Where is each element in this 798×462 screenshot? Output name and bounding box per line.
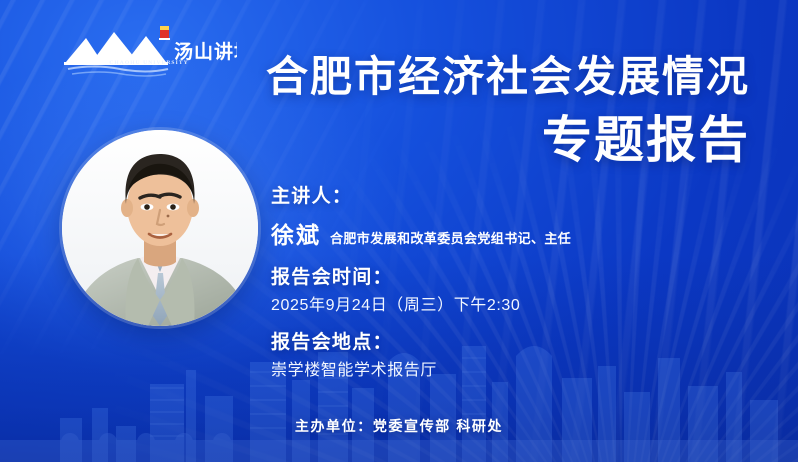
headline-line-2: 专题报告: [266, 115, 750, 166]
speaker-title: 合肥市发展和改革委员会党组书记、主任: [330, 228, 571, 247]
venue-value: 崇学楼智能学术报告厅: [271, 361, 571, 380]
speaker-row: 徐斌 合肥市发展和改革委员会党组书记、主任: [271, 216, 571, 250]
speaker-block: 主讲人： 徐斌 合肥市发展和改革委员会党组书记、主任: [271, 186, 571, 250]
poster-headline: 合肥市经济社会发展情况 专题报告: [266, 56, 750, 166]
organizer-footer: 主办单位：党委宣传部 科研处: [0, 416, 798, 436]
mountain-peaks-logo-icon: [64, 32, 168, 76]
event-details: 主讲人： 徐斌 合肥市发展和改革委员会党组书记、主任 报告会时间： 2025年9…: [271, 186, 571, 380]
headline-line-1: 合肥市经济社会发展情况: [266, 56, 750, 99]
venue-label: 报告会地点：: [271, 332, 571, 354]
venue-block: 报告会地点： 崇学楼智能学术报告厅: [271, 332, 571, 380]
chaohu-university-logo: 汤山讲坛: [62, 22, 237, 78]
red-flag-accent-icon: [159, 26, 170, 40]
time-value: 2025年9月24日（周三）下午2:30: [271, 296, 571, 315]
speaker-name: 徐斌: [271, 216, 321, 250]
logo-wordmark-en: CHAOHU UNIVERSITY: [94, 60, 204, 66]
time-label: 报告会时间：: [271, 267, 571, 289]
poster-canvas: 汤山讲坛 CHAOHU UNIVERSITY: [0, 0, 798, 462]
time-block: 报告会时间： 2025年9月24日（周三）下午2:30: [271, 267, 571, 315]
speaker-portrait-avatar: [62, 130, 258, 326]
speaker-label: 主讲人：: [271, 186, 571, 208]
